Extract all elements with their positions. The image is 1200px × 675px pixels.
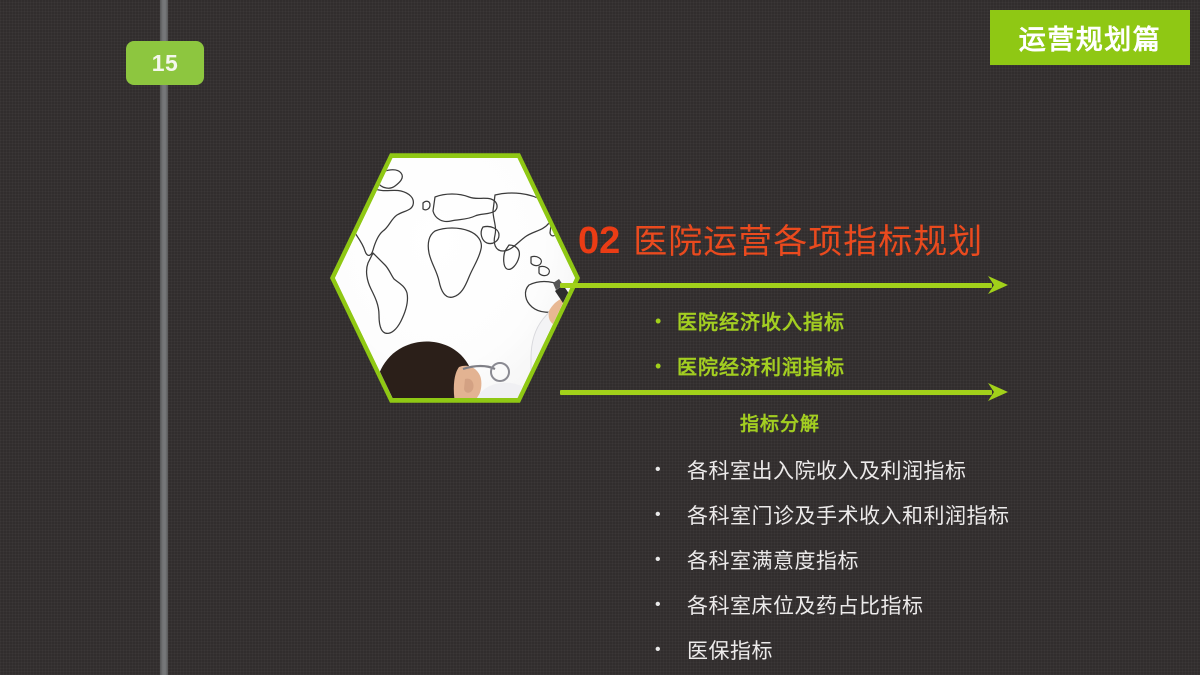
white-bullet-label: 各科室满意度指标 — [687, 545, 859, 575]
list-item: • 医院经济收入指标 — [655, 298, 845, 343]
arrow-bottom-line — [560, 390, 992, 395]
white-bullet-label: 医保指标 — [687, 635, 773, 665]
list-item: • 各科室出入院收入及利润指标 — [655, 447, 1085, 492]
green-bullet-label: 医院经济收入指标 — [677, 306, 845, 335]
section-title-label: 运营规划篇 — [1019, 18, 1162, 57]
title-heading: 医院运营各项指标规划 — [633, 225, 983, 259]
title-number: 02 — [578, 222, 620, 260]
list-item: • 各科室门诊及手术收入和利润指标 — [655, 492, 1085, 537]
bullet-dot-icon: • — [655, 507, 687, 523]
bullet-dot-icon: • — [655, 357, 677, 375]
arrow-top — [560, 278, 1012, 292]
white-bullet-label: 各科室床位及药占比指标 — [687, 590, 924, 620]
white-bullet-list: • 各科室出入院收入及利润指标 • 各科室门诊及手术收入和利润指标 • 各科室满… — [655, 447, 1085, 672]
vertical-divider-line — [160, 0, 168, 675]
bullet-dot-icon: • — [655, 552, 687, 568]
list-item: • 医保指标 — [655, 627, 1085, 672]
slide-canvas: 15 运营规划篇 — [0, 0, 1200, 675]
bullet-dot-icon: • — [655, 597, 687, 613]
section-title-badge: 运营规划篇 — [990, 10, 1190, 65]
white-bullet-label: 各科室门诊及手术收入和利润指标 — [687, 500, 1010, 530]
bullet-dot-icon: • — [655, 312, 677, 330]
hexagon-image-frame — [330, 148, 580, 408]
arrow-top-head-icon — [986, 272, 1012, 298]
person-illustration — [335, 153, 575, 403]
slide-title: 02 医院运营各项指标规划 — [578, 222, 983, 260]
bullet-dot-icon: • — [655, 462, 687, 478]
hexagon-photo-clip — [335, 153, 575, 403]
bullet-dot-icon: • — [655, 642, 687, 658]
page-number-badge: 15 — [126, 41, 204, 85]
list-item: • 医院经济利润指标 — [655, 343, 845, 388]
green-bullet-list: • 医院经济收入指标 • 医院经济利润指标 — [655, 298, 845, 388]
list-item: • 各科室满意度指标 — [655, 537, 1085, 582]
subheading-label: 指标分解 — [740, 409, 820, 436]
list-item: • 各科室床位及药占比指标 — [655, 582, 1085, 627]
page-number-label: 15 — [152, 52, 179, 75]
green-bullet-label: 医院经济利润指标 — [677, 351, 845, 380]
white-bullet-label: 各科室出入院收入及利润指标 — [687, 455, 967, 485]
arrow-top-line — [560, 283, 992, 288]
arrow-bottom-head-icon — [986, 379, 1012, 405]
